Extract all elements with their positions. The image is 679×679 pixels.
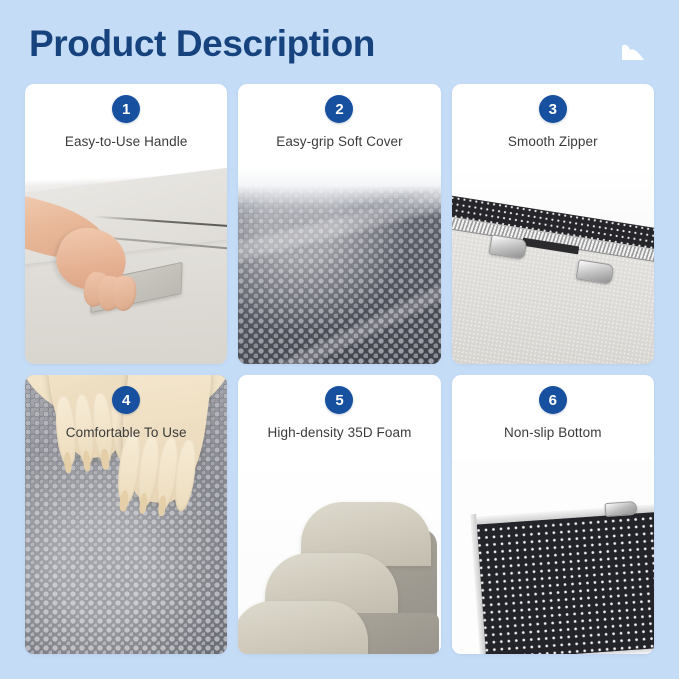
- grey-chenille-knit-texture-photo: [238, 168, 440, 364]
- feature-card-1[interactable]: 1 Easy-to-Use Handle: [25, 84, 227, 364]
- black-dotted-non-slip-base-photo: [452, 459, 654, 654]
- card-header: 2 Easy-grip Soft Cover: [238, 84, 440, 168]
- feature-card-grid: 1 Easy-to-Use Handle 2 Easy-grip Soft Co…: [25, 84, 654, 655]
- card-label: Smooth Zipper: [508, 134, 598, 149]
- feature-card-4[interactable]: 4 Comfortable To Use: [25, 375, 227, 654]
- dog-paws-on-grey-chenille-photo: [25, 375, 227, 654]
- card-label: High-density 35D Foam: [268, 425, 412, 440]
- step-badge: 2: [325, 95, 353, 123]
- card-header: 5 High-density 35D Foam: [238, 375, 440, 459]
- step-badge: 5: [325, 386, 353, 414]
- hand-pulling-fabric-handle-photo: [25, 168, 227, 364]
- step-badge: 1: [112, 95, 140, 123]
- step-badge: 3: [539, 95, 567, 123]
- header: Product Description: [0, 0, 679, 84]
- card-header: 6 Non-slip Bottom: [452, 375, 654, 459]
- product-description-infographic: Product Description 1 Easy-to-Use Handle: [0, 0, 679, 679]
- feature-card-2[interactable]: 2 Easy-grip Soft Cover: [238, 84, 440, 364]
- card-label: Easy-grip Soft Cover: [276, 134, 403, 149]
- card-label: Non-slip Bottom: [504, 425, 602, 440]
- feature-card-3[interactable]: 3 Smooth Zipper: [452, 84, 654, 364]
- page-title: Product Description: [29, 23, 375, 65]
- dual-slider-zipper-closeup-photo: [452, 168, 654, 364]
- cloud-corner-icon: [619, 41, 645, 61]
- beige-foam-pet-stairs-photo: [238, 459, 440, 654]
- card-header: 1 Easy-to-Use Handle: [25, 84, 227, 168]
- card-label: Easy-to-Use Handle: [65, 134, 188, 149]
- step-badge: 6: [539, 386, 567, 414]
- card-header: 3 Smooth Zipper: [452, 84, 654, 168]
- feature-card-5[interactable]: 5 High-density 35D Foam: [238, 375, 440, 654]
- feature-card-6[interactable]: 6 Non-slip Bottom: [452, 375, 654, 654]
